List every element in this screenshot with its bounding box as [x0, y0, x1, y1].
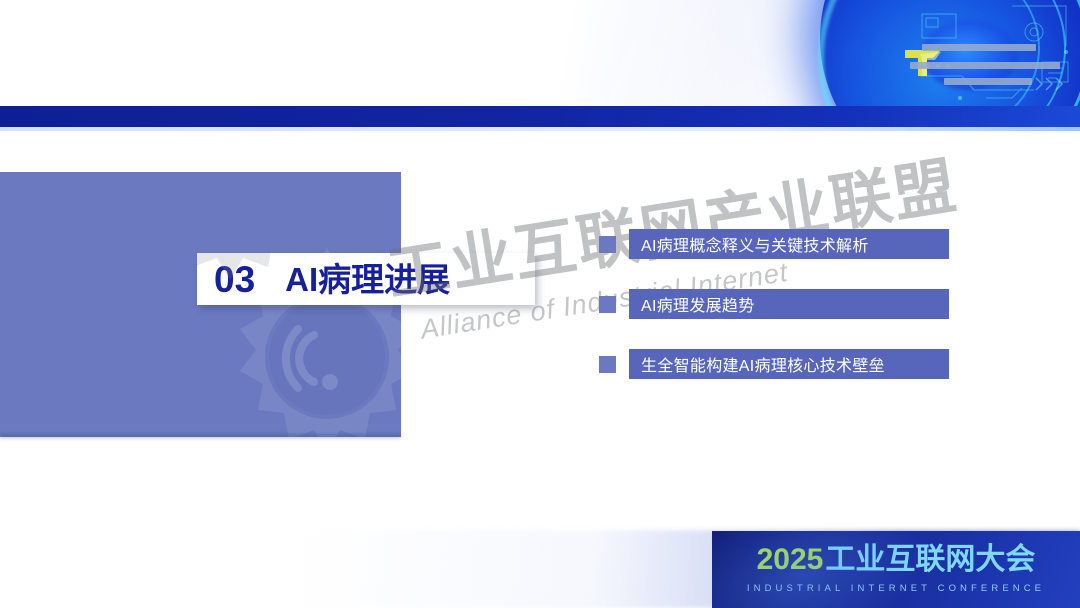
- conference-logo-name-cn: 工业互联网大会: [825, 543, 1035, 576]
- conference-logo: 2025工业互联网大会 INDUSTRIAL INTERNET CONFEREN…: [712, 531, 1080, 608]
- agenda-item-bar[interactable]: AI病理概念释义与关键技术解析: [629, 229, 949, 259]
- slide-header-banner: [0, 0, 1080, 106]
- conference-logo-main: 2025工业互联网大会: [712, 545, 1080, 575]
- bullet-square-icon: [599, 356, 616, 373]
- banner-accent-bar: [922, 44, 1036, 51]
- section-title-band: 03 AI病理进展: [197, 253, 535, 305]
- list-item[interactable]: 生全智能构建AI病理核心技术壁垒: [599, 349, 949, 379]
- agenda-item-bar[interactable]: 生全智能构建AI病理核心技术壁垒: [629, 349, 949, 379]
- bullet-square-icon: [599, 296, 616, 313]
- section-number: 03: [214, 261, 255, 298]
- agenda-item-label: AI病理发展趋势: [641, 292, 755, 316]
- agenda-item-label: 生全智能构建AI病理核心技术壁垒: [641, 352, 885, 376]
- banner-accent-bar: [910, 62, 1060, 69]
- slide-canvas: 03 AI病理进展 工业互联网产业联盟 Alliance of Industri…: [0, 0, 1080, 608]
- header-navy-rule-glow: [0, 127, 1080, 131]
- conference-logo-name-en: INDUSTRIAL INTERNET CONFERENCE: [712, 583, 1080, 594]
- agenda-item-label: AI病理概念释义与关键技术解析: [641, 232, 869, 256]
- page-title: AI病理进展: [285, 263, 450, 296]
- list-item[interactable]: AI病理概念释义与关键技术解析: [599, 229, 949, 259]
- banner-accent-bar: [944, 78, 1032, 85]
- header-navy-rule: [0, 106, 1080, 127]
- bullet-square-icon: [599, 236, 616, 253]
- list-item[interactable]: AI病理发展趋势: [599, 289, 949, 319]
- agenda-item-bar[interactable]: AI病理发展趋势: [629, 289, 949, 319]
- agenda-list: AI病理概念释义与关键技术解析 AI病理发展趋势 生全智能构建AI病理核心技术壁…: [599, 229, 949, 409]
- panel-drop-shadow: [0, 434, 401, 438]
- conference-logo-year: 2025: [757, 543, 824, 576]
